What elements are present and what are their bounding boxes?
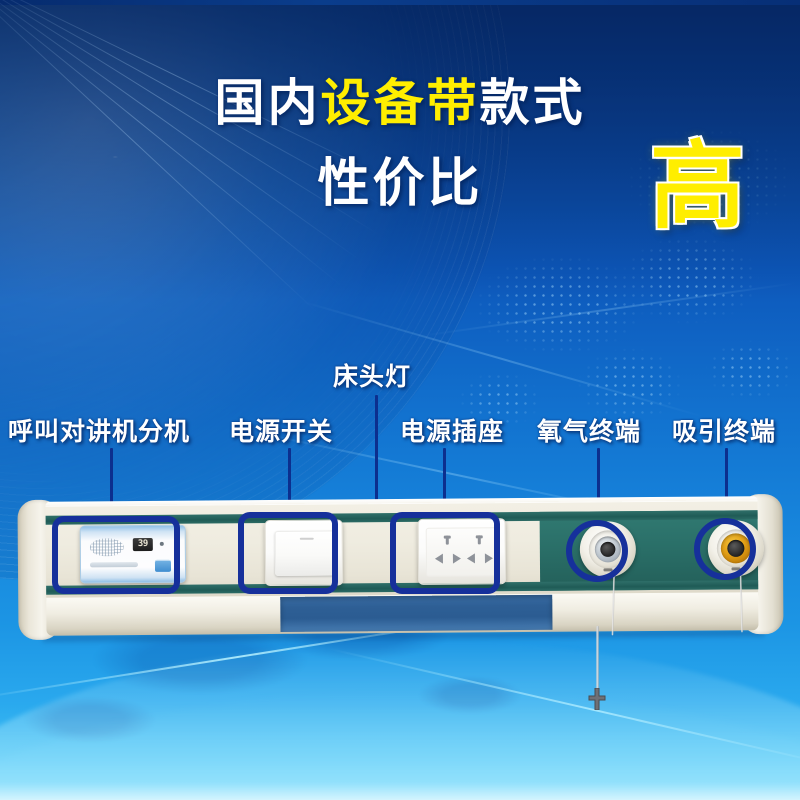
callout-label-oxygen: 氧气终端 bbox=[537, 412, 641, 448]
headline-emphasis-char: 高 bbox=[650, 140, 745, 235]
highlight-box-power-switch bbox=[238, 512, 338, 594]
callout-label-power-socket: 电源插座 bbox=[400, 412, 504, 448]
callout-label-power-switch: 电源开关 bbox=[229, 412, 333, 448]
cord-cross-fitting-icon bbox=[588, 688, 606, 710]
hanging-pull-cord[interactable] bbox=[596, 626, 599, 694]
panel-blue-reflection bbox=[280, 595, 552, 632]
highlight-box-intercom bbox=[52, 516, 180, 594]
callout-label-intercom: 呼叫对讲机分机 bbox=[8, 412, 190, 448]
highlight-box-power-socket bbox=[390, 512, 500, 594]
highlight-circle-oxygen bbox=[566, 520, 628, 582]
light-rays bbox=[0, 0, 420, 380]
callout-label-suction: 吸引终端 bbox=[672, 412, 776, 448]
highlight-circle-suction bbox=[694, 518, 756, 580]
callout-label-bed-lamp: 床头灯 bbox=[333, 357, 411, 393]
product-banner: 国内设备带款式 性价比 高 呼叫对讲机分机 电源开关 床头灯 电源插座 氧气终端… bbox=[0, 0, 800, 800]
